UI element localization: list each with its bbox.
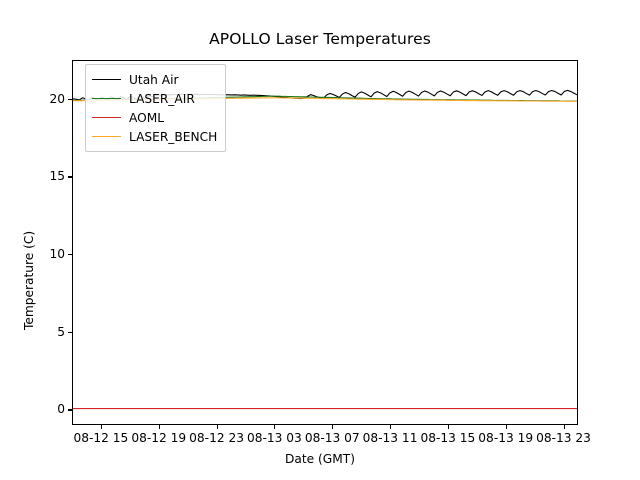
legend-label: LASER_BENCH [129,130,217,144]
x-tick-label: 08-13 23 [536,431,591,445]
legend-item[interactable]: Utah Air [92,70,217,89]
legend-item[interactable]: LASER_AIR [92,89,217,108]
x-tick-label: 08-13 19 [478,431,533,445]
x-tick-mark [448,425,449,429]
legend-color-swatch [92,79,121,80]
x-tick-mark [274,425,275,429]
x-tick-mark [101,425,102,429]
x-tick-mark [506,425,507,429]
x-tick-mark [159,425,160,429]
legend-item[interactable]: AOML [92,108,217,127]
x-axis-label: Date (GMT) [0,452,640,466]
y-tick-value: 15 [40,169,65,183]
x-tick-label: 08-12 23 [189,431,244,445]
x-tick-label: 08-13 11 [363,431,418,445]
x-tick-mark [332,425,333,429]
x-tick-label: 08-13 07 [305,431,360,445]
legend-color-swatch [92,98,121,99]
x-tick-label: 08-12 15 [74,431,129,445]
y-tick-value: 20 [40,92,65,106]
x-tick-mark [564,425,565,429]
legend: Utah AirLASER_AIRAOMLLASER_BENCH [85,64,226,152]
legend-label: Utah Air [129,73,179,87]
legend-item[interactable]: LASER_BENCH [92,127,217,146]
page-title: APOLLO Laser Temperatures [0,30,640,48]
legend-label: LASER_AIR [129,92,195,106]
legend-label: AOML [129,111,164,125]
matplotlib-figure: APOLLO Laser Temperatures Temperature (C… [0,0,640,480]
x-tick-mark [390,425,391,429]
y-tick-value: 0 [40,402,65,416]
y-tick-value: 5 [40,325,65,339]
legend-color-swatch [92,136,121,137]
y-tick-value: 10 [40,247,65,261]
x-tick-label: 08-13 15 [420,431,475,445]
x-tick-label: 08-12 19 [131,431,186,445]
y-axis-label: Temperature (C) [22,231,36,330]
x-tick-mark [217,425,218,429]
x-tick-label: 08-13 03 [247,431,302,445]
legend-color-swatch [92,117,121,118]
